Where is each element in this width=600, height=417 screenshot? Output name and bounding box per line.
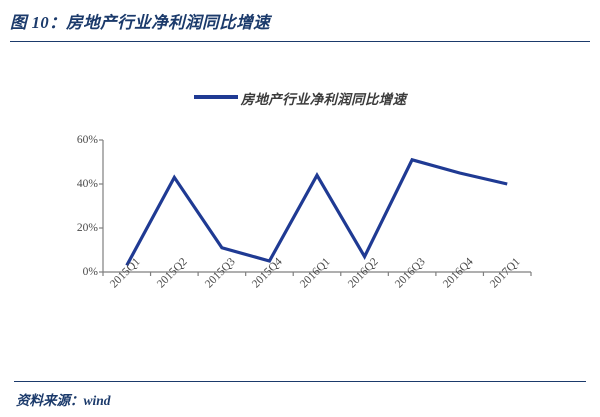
footer-divider	[14, 381, 586, 382]
header-divider	[10, 41, 590, 42]
x-axis-tick-label: 2016Q4	[441, 256, 476, 291]
x-axis-tick-label: 2017Q1	[488, 256, 523, 291]
x-axis-tick-label: 2015Q4	[250, 256, 285, 291]
plot-wrap: 0%20%40%60% 2015Q12015Q22015Q32015Q42016…	[0, 50, 600, 375]
x-axis-tick-label: 2015Q3	[203, 256, 238, 291]
x-axis-tick-label: 2016Q2	[346, 256, 381, 291]
x-axis-tick-label: 2015Q2	[155, 256, 190, 291]
x-axis-tick-labels: 2015Q12015Q22015Q32015Q42016Q12016Q22016…	[0, 50, 600, 375]
x-axis-tick-label: 2015Q1	[108, 256, 143, 291]
chart-area: 房地产行业净利润同比增速 0%20%40%60% 2015Q12015Q2201…	[0, 50, 600, 375]
x-axis-tick-label: 2016Q3	[393, 256, 428, 291]
source-note: 资料来源：wind	[16, 389, 111, 409]
x-axis-tick-label: 2016Q1	[298, 256, 333, 291]
page-title: 图 10：房地产行业净利润同比增速	[10, 12, 590, 34]
figure-page: 图 10：房地产行业净利润同比增速 房地产行业净利润同比增速 0%20%40%6…	[0, 0, 600, 417]
